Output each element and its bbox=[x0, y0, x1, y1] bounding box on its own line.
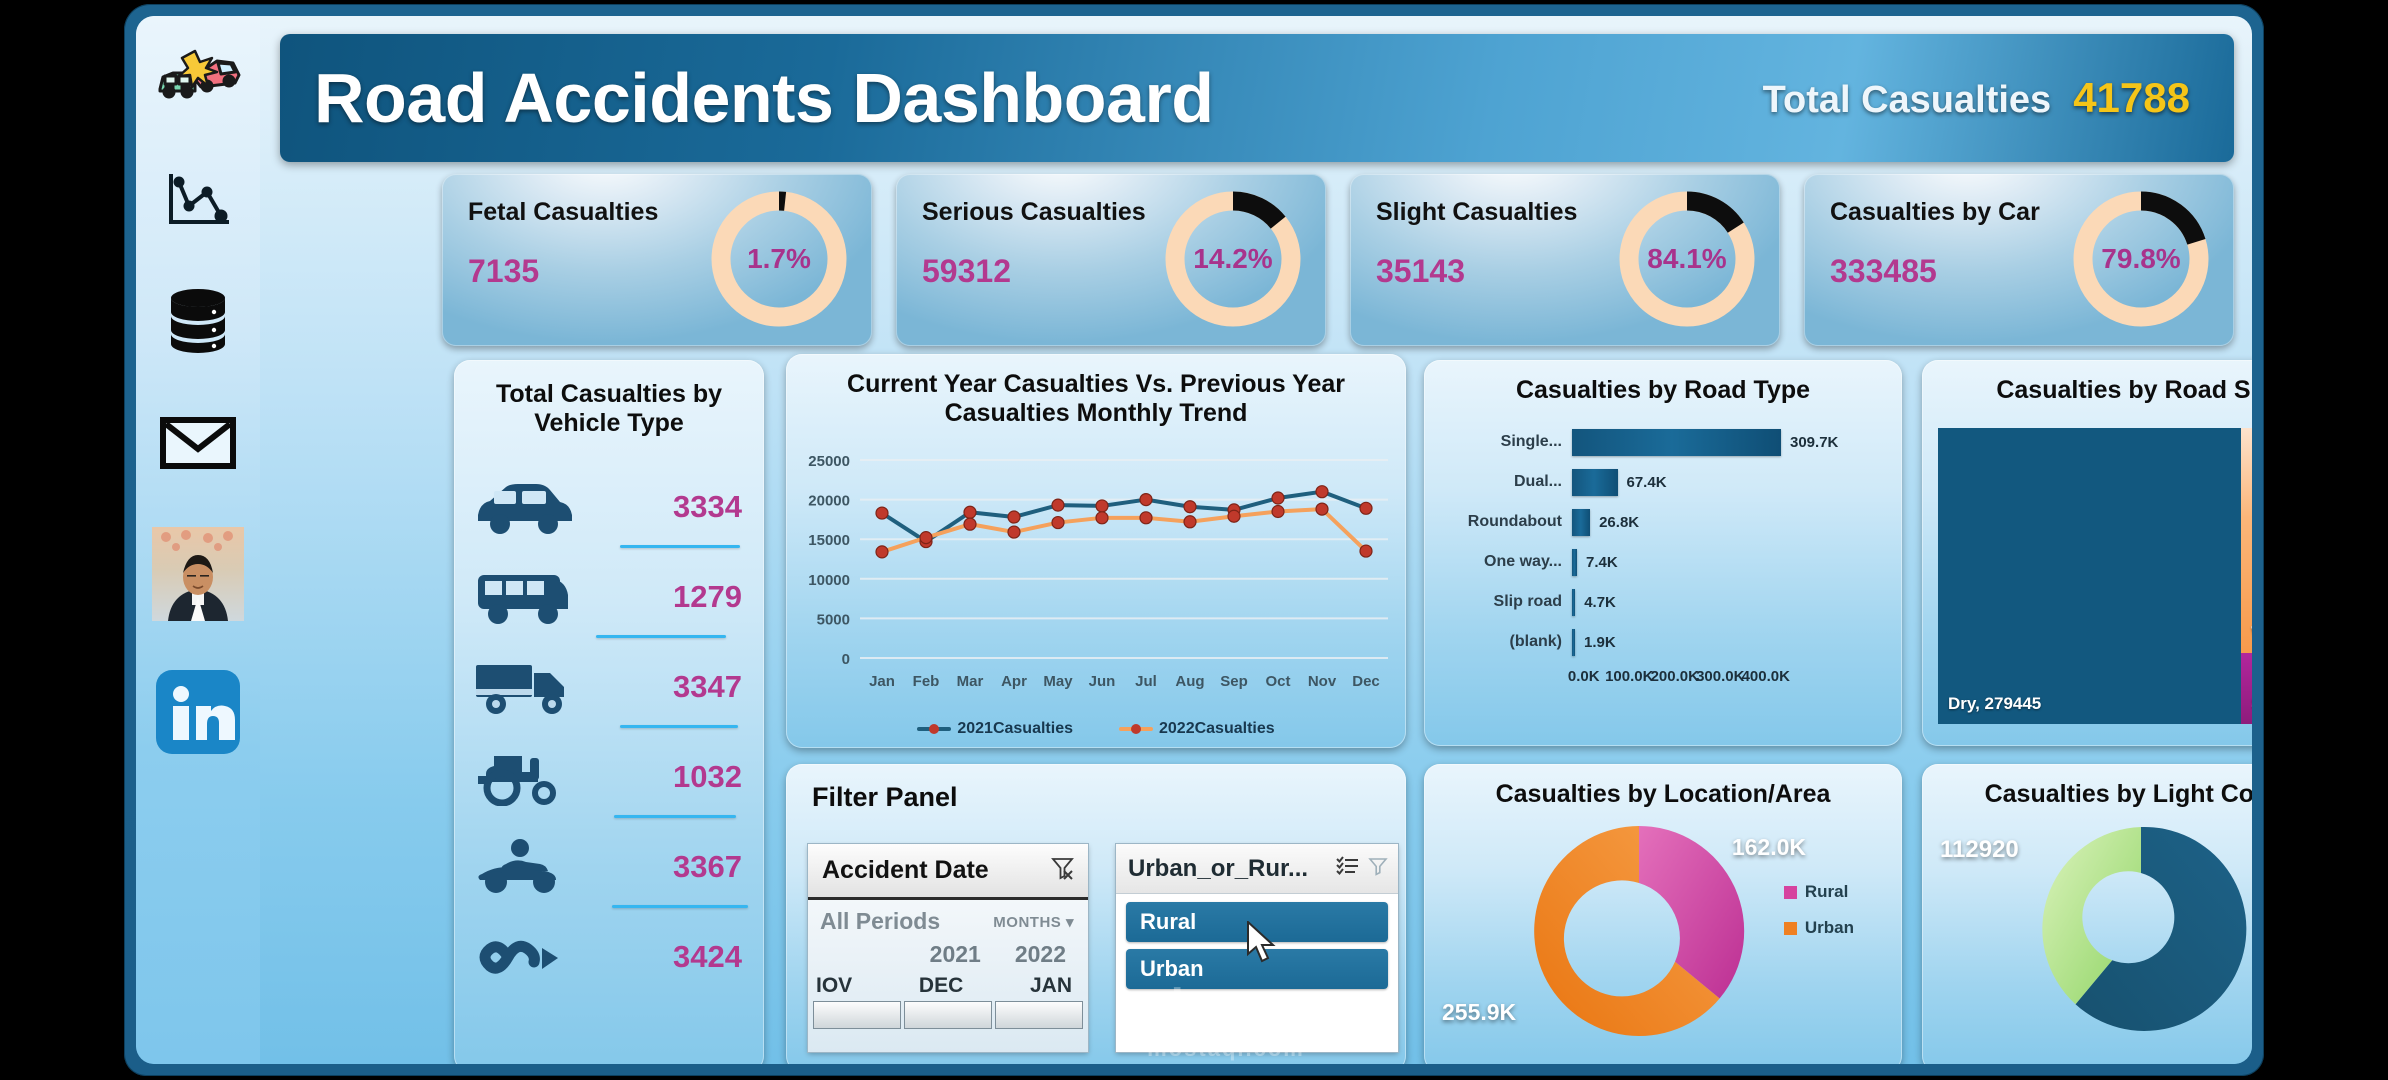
envelope-icon[interactable] bbox=[152, 404, 244, 482]
dashboard-canvas: Road Accidents Dashboard Total Casualtie… bbox=[136, 16, 2252, 1064]
urban-rural-items: Rural Urban bbox=[1116, 894, 1398, 1052]
vehicle-row: 3424 bbox=[472, 912, 748, 1002]
vehicle-row: 1279 bbox=[472, 552, 748, 642]
trend-chart-card: Current Year Casualties Vs. Previous Yea… bbox=[786, 354, 1406, 748]
mouse-cursor bbox=[1246, 921, 1280, 970]
road-surface-card: Casualties by Road Surface Dry, 279445 W… bbox=[1922, 360, 2252, 746]
screenshot-stage: Road Accidents Dashboard Total Casualtie… bbox=[0, 0, 2388, 1080]
month-row: IOV DEC JAN bbox=[808, 968, 1088, 998]
legend-swatch-2022 bbox=[1119, 727, 1153, 731]
filter-icon[interactable] bbox=[1368, 856, 1388, 881]
bar-value-label: 67.4K bbox=[1627, 474, 1667, 491]
trend-chart-title: Current Year Casualties Vs. Previous Yea… bbox=[786, 354, 1406, 428]
month-nov[interactable]: IOV bbox=[816, 974, 852, 998]
bar-x-axis: 0.0K100.0K200.0K300.0K400.0K bbox=[1424, 668, 1902, 685]
vehicle-value: 1032 bbox=[582, 759, 748, 795]
bar-value-label: 26.8K bbox=[1599, 514, 1639, 531]
legend-item-urban[interactable]: Urban bbox=[1784, 918, 1854, 938]
urban-rural-label: Urban_or_Rur... bbox=[1128, 855, 1308, 883]
svg-text:0: 0 bbox=[842, 651, 850, 668]
svg-text:Aug: Aug bbox=[1175, 673, 1204, 690]
bar-track: 7.4K bbox=[1572, 542, 1842, 582]
svg-text:Oct: Oct bbox=[1265, 673, 1290, 690]
bar-category-label: Single... bbox=[1424, 433, 1572, 451]
vehicle-value: 3424 bbox=[582, 939, 748, 975]
page-title: Road Accidents Dashboard bbox=[314, 58, 1213, 138]
vehicle-type-card: Total Casualties by Vehicle Type 3334127… bbox=[454, 360, 764, 1064]
bar-fill bbox=[1572, 509, 1590, 536]
kpi-percentage: 84.1% bbox=[1616, 188, 1758, 330]
bar-fill bbox=[1572, 629, 1575, 656]
treemap-tile-dry[interactable]: Dry, 279445 bbox=[1938, 428, 2241, 724]
svg-text:Sep: Sep bbox=[1220, 673, 1248, 690]
vehicle-value: 3334 bbox=[582, 489, 748, 525]
kpi-card: Casualties by Car33348579.8% bbox=[1804, 174, 2234, 346]
location-area-donut[interactable] bbox=[1524, 816, 1754, 1046]
svg-text:Jun: Jun bbox=[1089, 673, 1116, 690]
legend-item-2022[interactable]: 2022Casualties bbox=[1119, 720, 1275, 738]
bar-category-label: Roundabout bbox=[1424, 513, 1572, 531]
month-slider-track[interactable] bbox=[808, 998, 1088, 1028]
month-jan[interactable]: JAN bbox=[1030, 974, 1072, 998]
vehicle-underline bbox=[614, 815, 736, 818]
vehicle-row: 3347 bbox=[472, 642, 748, 732]
legend-label-2021: 2021Casualties bbox=[957, 720, 1073, 738]
kpi-percentage: 79.8% bbox=[2070, 188, 2212, 330]
bar-category-label: (blank) bbox=[1424, 633, 1572, 651]
motorcycle-icon bbox=[472, 836, 582, 898]
treemap-right-column: Wet, 115261 Snow / Ice,... bbox=[2241, 428, 2252, 724]
x-axis-tick: 400.0K bbox=[1732, 668, 1800, 685]
crash-logo-icon[interactable] bbox=[152, 38, 244, 116]
accident-date-slicer[interactable]: Accident Date All Periods MONT bbox=[808, 844, 1088, 1052]
bar-row[interactable]: Dual...67.4K bbox=[1424, 462, 1902, 502]
location-area-title: Casualties by Location/Area bbox=[1424, 764, 1902, 809]
legend-swatch-urban bbox=[1784, 922, 1797, 935]
tractor-icon bbox=[472, 746, 582, 808]
vehicle-underline bbox=[612, 905, 748, 908]
legend-item-rural[interactable]: Rural bbox=[1784, 882, 1854, 902]
vehicle-value: 3367 bbox=[582, 849, 748, 885]
vehicle-type-title: Total Casualties by Vehicle Type bbox=[454, 360, 764, 438]
all-periods-label[interactable]: All Periods bbox=[820, 908, 940, 935]
total-casualties-value: 41788 bbox=[2073, 74, 2190, 122]
svg-text:10000: 10000 bbox=[808, 572, 850, 589]
kpi-percentage: 14.2% bbox=[1162, 188, 1304, 330]
svg-text:20000: 20000 bbox=[808, 493, 850, 510]
bar-category-label: Slip road bbox=[1424, 593, 1572, 611]
year-2022[interactable]: 2022 bbox=[1015, 941, 1066, 968]
dashboard-header: Road Accidents Dashboard Total Casualtie… bbox=[280, 34, 2234, 162]
accident-date-slicer-header: Accident Date bbox=[808, 844, 1088, 900]
legend-swatch-2021 bbox=[917, 727, 951, 731]
filter-panel-title: Filter Panel bbox=[786, 764, 1406, 813]
bar-value-label: 4.7K bbox=[1584, 594, 1616, 611]
clear-filter-icon[interactable] bbox=[1050, 855, 1076, 886]
sidebar bbox=[136, 16, 260, 1064]
year-row: 2021 2022 bbox=[808, 935, 1088, 968]
trend-chart-legend: 2021Casualties 2022Casualties bbox=[786, 720, 1406, 738]
bar-track: 67.4K bbox=[1572, 462, 1842, 502]
bar-fill bbox=[1572, 429, 1781, 456]
kpi-card: Slight Casualties3514384.1% bbox=[1350, 174, 1780, 346]
multi-select-icon[interactable] bbox=[1336, 856, 1360, 881]
bar-track: 1.9K bbox=[1572, 622, 1842, 662]
bar-value-label: 309.7K bbox=[1790, 434, 1838, 451]
bar-track: 4.7K bbox=[1572, 582, 1842, 622]
svg-text:May: May bbox=[1043, 673, 1073, 690]
bar-row[interactable]: Roundabout26.8K bbox=[1424, 502, 1902, 542]
svg-text:Nov: Nov bbox=[1308, 673, 1337, 690]
svg-text:25000: 25000 bbox=[808, 453, 850, 470]
line-chart-icon[interactable] bbox=[152, 160, 244, 238]
bar-fill bbox=[1572, 589, 1575, 616]
kpi-row: Fetal Casualties71351.7%Serious Casualti… bbox=[442, 174, 2234, 346]
svg-text:5000: 5000 bbox=[817, 611, 850, 628]
kpi-percentage: 1.7% bbox=[708, 188, 850, 330]
road-type-card: Casualties by Road Type Single...309.7KD… bbox=[1424, 360, 1902, 746]
treemap-label-wet: Wet, 115261 bbox=[2251, 623, 2252, 643]
vehicle-row: 3334 bbox=[472, 462, 748, 552]
vehicle-underline bbox=[620, 725, 738, 728]
road-surface-treemap: Dry, 279445 Wet, 115261 Snow / Ice,... bbox=[1938, 428, 2252, 724]
filter-panel-card: Filter Panel Accident Date A bbox=[786, 764, 1406, 1064]
bar-track: 26.8K bbox=[1572, 502, 1842, 542]
bar-row[interactable]: (blank)1.9K bbox=[1424, 622, 1902, 662]
road-type-bars: Single...309.7KDual...67.4KRoundabout26.… bbox=[1424, 422, 1902, 722]
location-value-rural: 162.0K bbox=[1732, 834, 1806, 861]
bar-row[interactable]: One way...7.4K bbox=[1424, 542, 1902, 582]
accident-date-period-row: All Periods MONTHS ▾ bbox=[808, 900, 1088, 935]
light-condition-card: Casualties by Light Condition bbox=[1922, 764, 2252, 1064]
month-dec[interactable]: DEC bbox=[919, 974, 963, 998]
light-condition-title: Casualties by Light Condition bbox=[1922, 764, 2252, 809]
location-value-urban: 255.9K bbox=[1442, 999, 1516, 1026]
treemap-tile-snow[interactable]: Snow / Ice,... bbox=[2241, 653, 2252, 724]
location-area-card: Casualties by Location/Area bbox=[1424, 764, 1902, 1064]
bar-category-label: Dual... bbox=[1424, 473, 1572, 491]
road-type-title: Casualties by Road Type bbox=[1424, 360, 1902, 405]
bus-icon bbox=[472, 566, 582, 628]
total-casualties-label: Total Casualties bbox=[1763, 79, 2052, 122]
vehicle-underline bbox=[596, 635, 726, 638]
database-icon[interactable] bbox=[152, 282, 244, 360]
bar-row[interactable]: Single...309.7K bbox=[1424, 422, 1902, 462]
bar-fill bbox=[1572, 549, 1577, 576]
svg-text:Dec: Dec bbox=[1352, 673, 1380, 690]
bar-category-label: One way... bbox=[1424, 553, 1572, 571]
svg-text:Feb: Feb bbox=[913, 673, 940, 690]
month-slider-segment[interactable] bbox=[996, 1002, 1082, 1028]
accident-date-slicer-body: All Periods MONTHS ▾ 2021 2022 IOV bbox=[808, 900, 1088, 1052]
month-slider-segment[interactable] bbox=[814, 1002, 900, 1028]
treemap-label-dry: Dry, 279445 bbox=[1948, 694, 2041, 714]
bar-value-label: 7.4K bbox=[1586, 554, 1618, 571]
svg-text:15000: 15000 bbox=[808, 532, 850, 549]
urban-rural-slicer-header: Urban_or_Rur... bbox=[1116, 844, 1398, 894]
bar-fill bbox=[1572, 469, 1618, 496]
legend-label-rural: Rural bbox=[1805, 882, 1848, 902]
legend-label-urban: Urban bbox=[1805, 918, 1854, 938]
total-casualties-kpi: Total Casualties 41788 bbox=[1763, 74, 2190, 122]
granularity-label: MONTHS bbox=[993, 914, 1061, 931]
legend-swatch-rural bbox=[1784, 886, 1797, 899]
svg-text:Mar: Mar bbox=[957, 673, 984, 690]
road-surface-title: Casualties by Road Surface bbox=[1922, 360, 2252, 405]
dashboard-frame: Road Accidents Dashboard Total Casualtie… bbox=[124, 4, 2264, 1076]
chevron-down-icon: ▾ bbox=[1066, 914, 1074, 931]
car-icon bbox=[472, 476, 582, 538]
vehicle-value: 3347 bbox=[582, 669, 748, 705]
kpi-card: Serious Casualties5931214.2% bbox=[896, 174, 1326, 346]
granularity-dropdown[interactable]: MONTHS ▾ bbox=[993, 913, 1074, 931]
bar-value-label: 1.9K bbox=[1584, 634, 1616, 651]
kpi-card: Fetal Casualties71351.7% bbox=[442, 174, 872, 346]
svg-text:Jul: Jul bbox=[1135, 673, 1157, 690]
trend-chart-plot: 0500010000150002000025000JanFebMarAprMay… bbox=[786, 450, 1406, 700]
svg-text:Apr: Apr bbox=[1001, 673, 1027, 690]
profile-photo[interactable] bbox=[152, 526, 244, 622]
year-2021[interactable]: 2021 bbox=[930, 941, 981, 968]
accident-date-label: Accident Date bbox=[822, 856, 989, 885]
month-slider-segment[interactable] bbox=[905, 1002, 991, 1028]
linkedin-icon[interactable] bbox=[152, 666, 244, 758]
truck-icon bbox=[472, 656, 582, 718]
vehicle-value: 1279 bbox=[582, 579, 748, 615]
location-area-legend: Rural Urban bbox=[1784, 882, 1854, 938]
other-icon bbox=[472, 926, 582, 988]
legend-item-2021[interactable]: 2021Casualties bbox=[917, 720, 1073, 738]
light-value-dark: 112920 bbox=[1940, 836, 2019, 864]
vehicle-row: 3367 bbox=[472, 822, 748, 912]
vehicle-underline bbox=[620, 545, 740, 548]
bar-track: 309.7K bbox=[1572, 422, 1842, 462]
vehicle-row: 1032 bbox=[472, 732, 748, 822]
legend-label-2022: 2022Casualties bbox=[1159, 720, 1275, 738]
treemap-tile-wet[interactable]: Wet, 115261 bbox=[2241, 428, 2252, 653]
light-condition-donut[interactable] bbox=[2030, 818, 2252, 1040]
bar-row[interactable]: Slip road4.7K bbox=[1424, 582, 1902, 622]
svg-text:Jan: Jan bbox=[869, 673, 895, 690]
treemap-label-snow: Snow / Ice,... bbox=[2251, 694, 2252, 714]
vehicle-type-list: 333412793347103233673424 bbox=[454, 438, 764, 1002]
